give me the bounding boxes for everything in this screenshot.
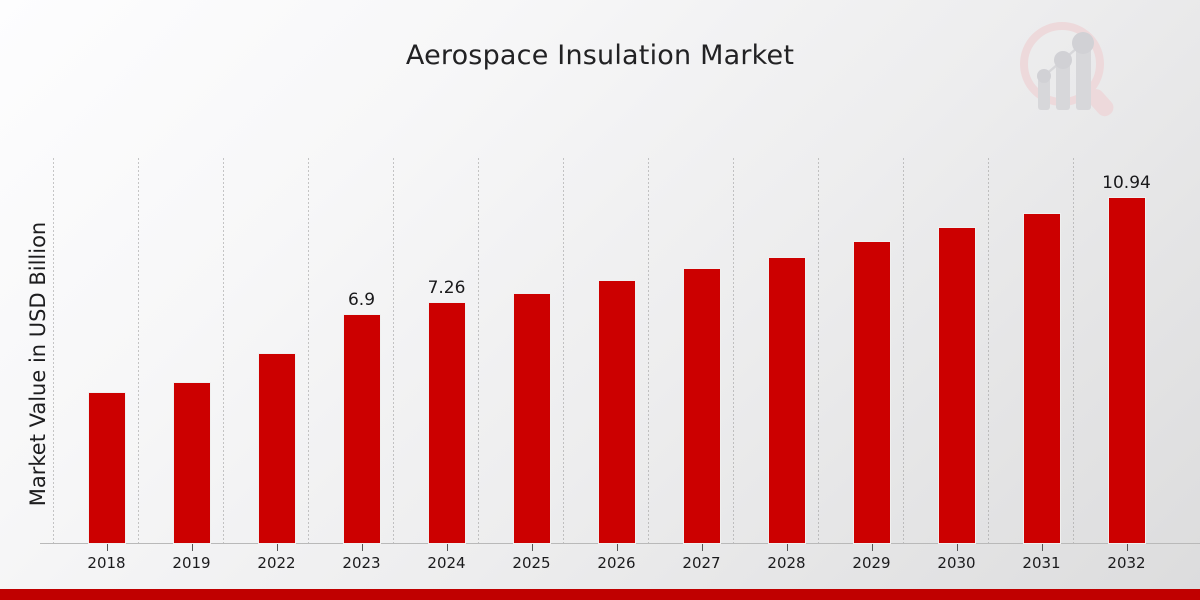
gridline <box>53 158 54 544</box>
x-tick <box>1127 544 1128 551</box>
bar-2023[interactable] <box>343 314 381 544</box>
chart-canvas: Aerospace Insulation Market Market Value… <box>0 0 1200 600</box>
x-tick <box>787 544 788 551</box>
x-tick <box>447 544 448 551</box>
x-axis-label-2029: 2029 <box>832 554 912 572</box>
x-tick <box>957 544 958 551</box>
bar-2029[interactable] <box>853 241 891 544</box>
x-tick <box>872 544 873 551</box>
x-axis-label-2026: 2026 <box>577 554 657 572</box>
x-tick <box>192 544 193 551</box>
x-axis-label-2019: 2019 <box>152 554 232 572</box>
x-axis-label-2018: 2018 <box>67 554 147 572</box>
bar-2030[interactable] <box>938 227 976 544</box>
bottom-accent-strip <box>0 589 1200 600</box>
x-tick <box>107 544 108 551</box>
gridline <box>1073 158 1074 544</box>
bar-value-label-2032: 10.94 <box>1082 173 1172 193</box>
bar-2027[interactable] <box>683 268 721 544</box>
x-axis-label-2030: 2030 <box>917 554 997 572</box>
bar-2022[interactable] <box>258 353 296 544</box>
bar-2028[interactable] <box>768 257 806 544</box>
x-axis-label-2024: 2024 <box>407 554 487 572</box>
x-axis-label-2032: 2032 <box>1087 554 1167 572</box>
gridline <box>733 158 734 544</box>
bar-2026[interactable] <box>598 280 636 544</box>
gridline <box>903 158 904 544</box>
gridline <box>818 158 819 544</box>
bar-2032[interactable] <box>1108 197 1146 544</box>
bar-2025[interactable] <box>513 293 551 544</box>
x-tick <box>532 544 533 551</box>
gridline <box>988 158 989 544</box>
gridline <box>223 158 224 544</box>
gridline <box>648 158 649 544</box>
x-tick <box>277 544 278 551</box>
bar-2018[interactable] <box>88 392 126 544</box>
gridline <box>393 158 394 544</box>
x-tick <box>702 544 703 551</box>
x-axis-label-2027: 2027 <box>662 554 742 572</box>
bar-value-label-2024: 7.26 <box>402 278 492 298</box>
bar-value-label-2023: 6.9 <box>317 290 407 310</box>
bar-2031[interactable] <box>1023 213 1061 544</box>
chart-title: Aerospace Insulation Market <box>0 40 1200 71</box>
gridline <box>478 158 479 544</box>
x-axis-label-2031: 2031 <box>1002 554 1082 572</box>
x-tick <box>1042 544 1043 551</box>
x-axis-label-2023: 2023 <box>322 554 402 572</box>
x-tick <box>617 544 618 551</box>
x-tick <box>362 544 363 551</box>
bar-2024[interactable] <box>428 302 466 544</box>
bar-2019[interactable] <box>173 382 211 544</box>
gridline <box>563 158 564 544</box>
plot-area: 6.97.2610.94 201820192022202320242025202… <box>40 158 1200 544</box>
x-axis-label-2025: 2025 <box>492 554 572 572</box>
x-axis-label-2028: 2028 <box>747 554 827 572</box>
gridline <box>308 158 309 544</box>
gridline <box>138 158 139 544</box>
x-axis-label-2022: 2022 <box>237 554 317 572</box>
